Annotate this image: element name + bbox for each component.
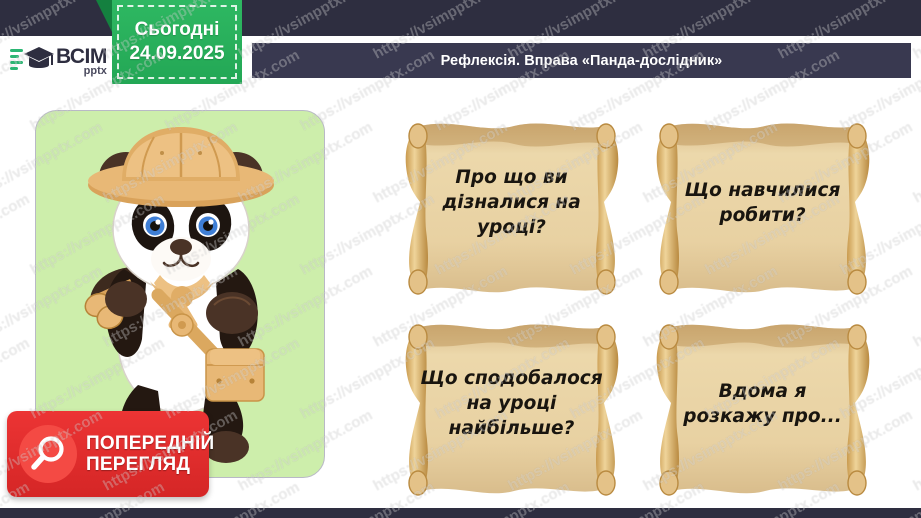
page-title: Рефлексія. Вправа «Панда-дослідник» xyxy=(441,53,723,69)
scroll-question-text: Що сподобалося на уроці найбільше? xyxy=(420,311,603,498)
scroll-question-text: Про що ви дізналися на уроці? xyxy=(420,110,603,297)
question-scroll-3[interactable]: Що сподобалося на уроці найбільше? xyxy=(394,311,629,504)
speed-lines-icon xyxy=(10,49,23,73)
preview-badge-line1: ПОПЕРЕДНІЙ xyxy=(86,433,214,454)
graduation-cap-icon xyxy=(10,42,54,80)
bottom-strip xyxy=(0,508,921,518)
preview-badge-line2: ПЕРЕГЛЯД xyxy=(86,454,214,475)
scroll-question-text: Що навчилися робити? xyxy=(671,110,854,297)
logo-brand-text: ВСІМ xyxy=(56,46,107,67)
slide-canvas: ВСІМ pptx Сьогодні 24.09.2025 Рефлексія.… xyxy=(0,0,921,518)
date-badge-label: Сьогодні xyxy=(135,18,220,42)
scroll-question-text: Вдома я розкажу про... xyxy=(671,311,854,498)
slide-title-bar: Рефлексія. Вправа «Панда-дослідник» xyxy=(252,43,911,78)
question-scroll-1[interactable]: Про що ви дізналися на уроці? xyxy=(394,110,629,303)
question-scroll-4[interactable]: Вдома я розкажу про... xyxy=(645,311,880,504)
date-badge: Сьогодні 24.09.2025 xyxy=(112,0,242,84)
preview-badge[interactable]: ПОПЕРЕДНІЙ ПЕРЕГЛЯД xyxy=(7,411,209,497)
question-scroll-2[interactable]: Що навчилися робити? xyxy=(645,110,880,303)
date-badge-value: 24.09.2025 xyxy=(129,42,224,66)
magnifier-icon xyxy=(19,425,77,483)
